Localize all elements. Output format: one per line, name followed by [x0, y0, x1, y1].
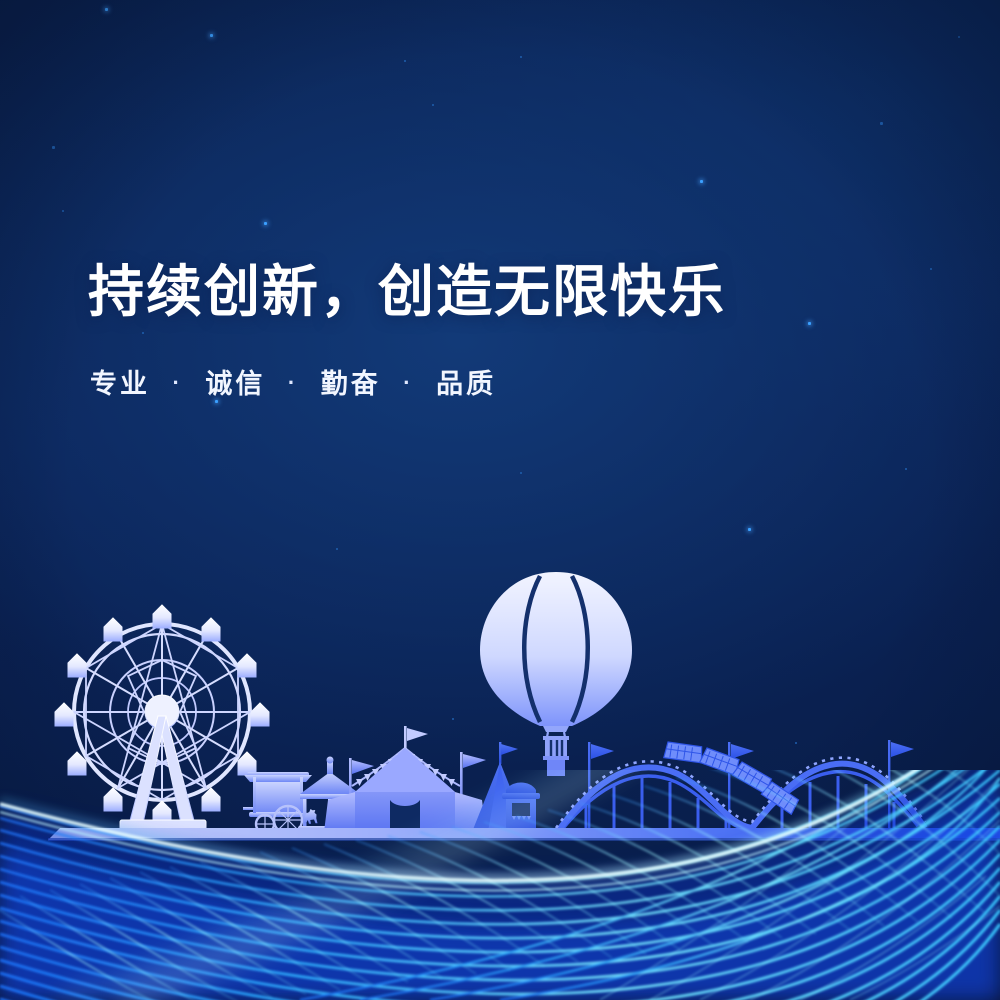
amusement-park-skyline	[0, 0, 1000, 1000]
vendor-cart	[243, 772, 312, 834]
poster-canvas: 持续创新，创造无限快乐 专业 · 诚信 · 勤奋 · 品质	[0, 0, 1000, 1000]
roller-coaster	[556, 740, 925, 834]
ticket-booth	[502, 783, 540, 833]
ground-strip	[48, 828, 1000, 841]
ferris-wheel	[55, 605, 269, 832]
